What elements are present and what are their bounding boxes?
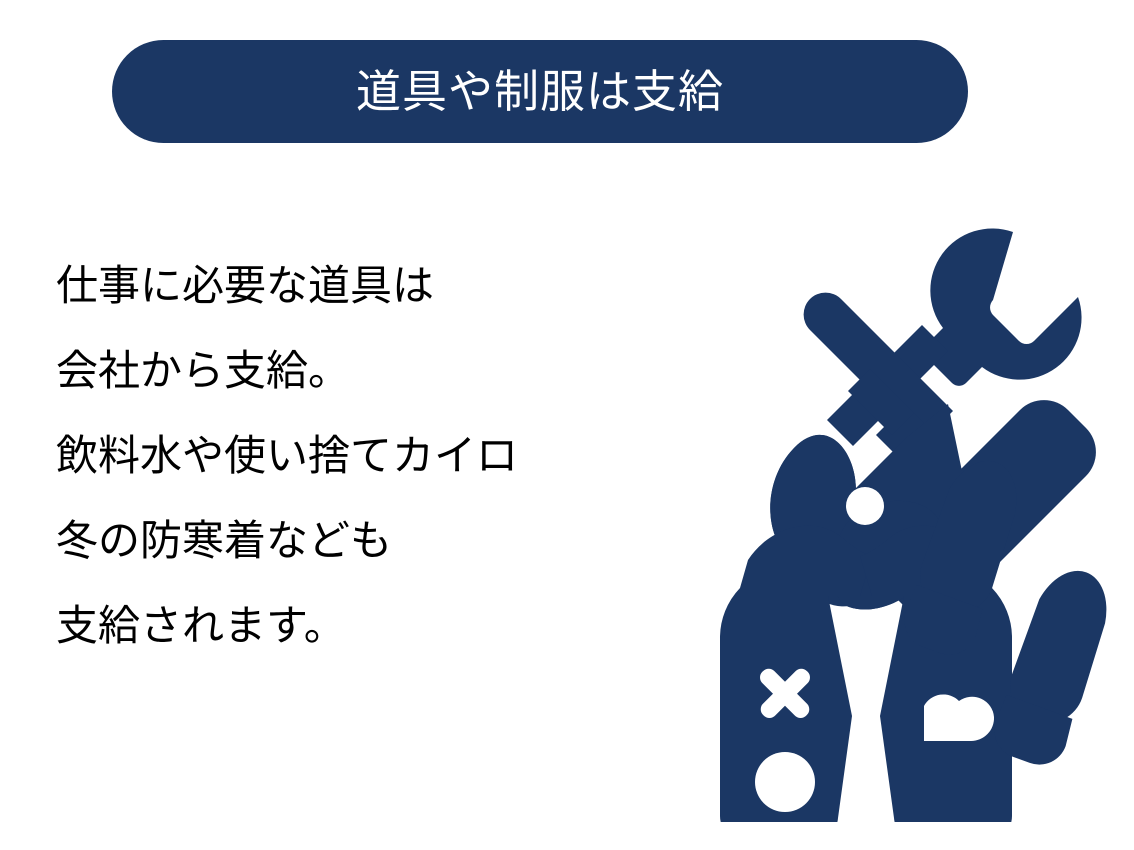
fan-hub xyxy=(846,487,884,525)
body-copy: 仕事に必要な道具は 会社から支給。 飲料水や使い捨てカイロ 冬の防寒着なども 支… xyxy=(56,243,616,668)
tools-uniform-illustration xyxy=(612,222,1112,822)
body-line-3: 飲料水や使い捨てカイロ xyxy=(56,413,616,498)
slide-canvas: 道具や制服は支給 仕事に必要な道具は 会社から支給。 飲料水や使い捨てカイロ 冬… xyxy=(0,0,1134,850)
vest-circle-mark xyxy=(755,752,815,812)
vest-heart-mark xyxy=(924,694,994,741)
page-title: 道具や制服は支給 xyxy=(356,69,724,114)
body-line-5: 支給されます。 xyxy=(56,583,616,668)
body-line-1: 仕事に必要な道具は xyxy=(56,243,616,328)
body-line-2: 会社から支給。 xyxy=(56,328,616,413)
body-line-4: 冬の防寒着なども xyxy=(56,498,616,583)
header-pill: 道具や制服は支給 xyxy=(112,40,968,143)
